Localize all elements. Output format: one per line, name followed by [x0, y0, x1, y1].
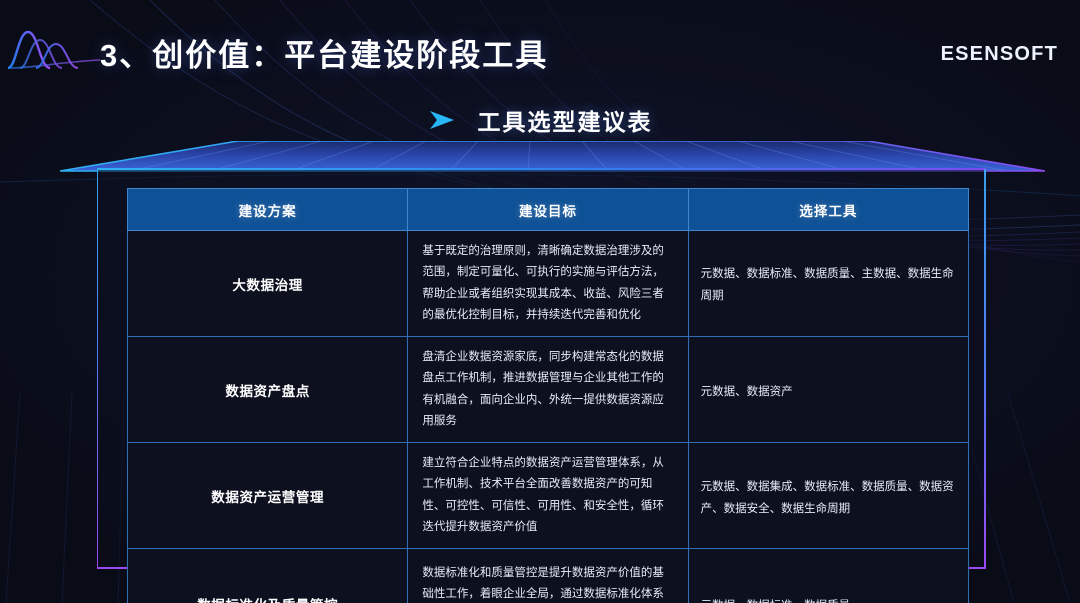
cell-tools: 元数据、数据标准、数据质量、主数据、数据生命周期 [688, 231, 968, 337]
tools-table-container: 建设方案 建设目标 选择工具 大数据治理 基于既定的治理原则，清晰确定数据治理涉… [127, 188, 969, 556]
cell-scheme: 数据标准化及质量管控 [128, 549, 408, 603]
cell-scheme: 大数据治理 [128, 231, 408, 337]
cell-tools: 元数据、数据资产 [688, 337, 968, 443]
arrow-right-icon [428, 109, 456, 131]
column-header-scheme: 建设方案 [128, 189, 408, 231]
slide-canvas: 3、创价值：平台建设阶段工具 ESENSOFT 工具选型建议表 [0, 0, 1080, 603]
table-row: 数据资产盘点 盘清企业数据资源家底，同步构建常态化的数据盘点工作机制，推进数据管… [128, 337, 969, 443]
cell-tools: 元数据、数据标准、数据质量 [688, 549, 968, 603]
cell-goal: 建立符合企业特点的数据资产运营管理体系，从工作机制、技术平台全面改善数据资产的可… [408, 443, 688, 549]
cell-goal: 数据标准化和质量管控是提升数据资产价值的基础性工作，着眼企业全局，通过数据标准化… [408, 549, 688, 603]
table-row: 大数据治理 基于既定的治理原则，清晰确定数据治理涉及的范围，制定可量化、可执行的… [128, 231, 969, 337]
cell-goal: 基于既定的治理原则，清晰确定数据治理涉及的范围，制定可量化、可执行的实施与评估方… [408, 231, 688, 337]
wave-logo-icon [6, 24, 102, 74]
section-subtitle-label: 工具选型建议表 [478, 103, 653, 137]
cell-tools: 元数据、数据集成、数据标准、数据质量、数据资产、数据安全、数据生命周期 [688, 443, 968, 549]
page-title: 3、创价值：平台建设阶段工具 [100, 30, 548, 75]
cell-scheme: 数据资产运营管理 [128, 443, 408, 549]
cell-scheme: 数据资产盘点 [128, 337, 408, 443]
tool-selection-table: 建设方案 建设目标 选择工具 大数据治理 基于既定的治理原则，清晰确定数据治理涉… [127, 188, 969, 603]
cell-goal: 盘清企业数据资源家底，同步构建常态化的数据盘点工作机制，推进数据管理与企业其他工… [408, 337, 688, 443]
column-header-goal: 建设目标 [408, 189, 688, 231]
column-header-tool: 选择工具 [688, 189, 968, 231]
panel-right-border [984, 169, 986, 569]
table-row: 数据标准化及质量管控 数据标准化和质量管控是提升数据资产价值的基础性工作，着眼企… [128, 549, 969, 603]
brand-logo-text: ESENSOFT [941, 43, 1058, 66]
section-subtitle: 工具选型建议表 [0, 103, 1080, 137]
slide-header: 3、创价值：平台建设阶段工具 ESENSOFT [0, 0, 1080, 92]
table-header-row: 建设方案 建设目标 选择工具 [128, 189, 969, 231]
table-row: 数据资产运营管理 建立符合企业特点的数据资产运营管理体系，从工作机制、技术平台全… [128, 443, 969, 549]
